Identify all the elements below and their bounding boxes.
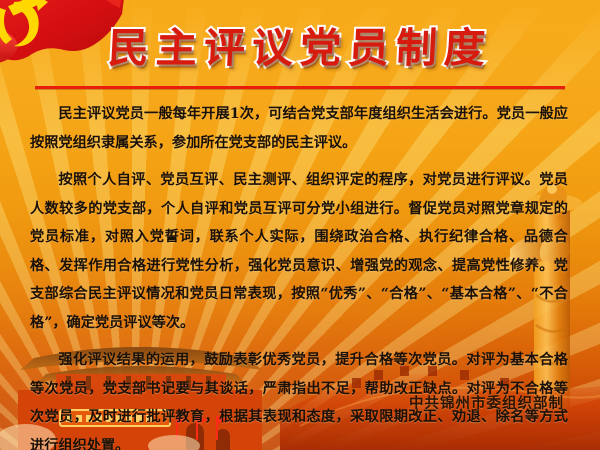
paragraph-1: 民主评议党员一般每年开展1次，可结合党支部年度组织生活会进行。党员一般应按照党组… (30, 100, 568, 157)
paragraph-2: 按照个人自评、党员互评、民主测评、组织评定的程序，对党员进行评议。党员人数较多的… (30, 166, 568, 337)
poster-title: 民主评议党员制度 (107, 28, 493, 69)
poster-title-wrap: 民主评议党员制度 (0, 28, 600, 69)
poster-signature: 中共锦州市委组织部制 (409, 392, 564, 413)
title-divider (35, 86, 565, 89)
poster-root: 民主评议党员制度 民主评议党员一般每年开展1次，可结合党支部年度组织生活会进行。… (0, 0, 600, 450)
